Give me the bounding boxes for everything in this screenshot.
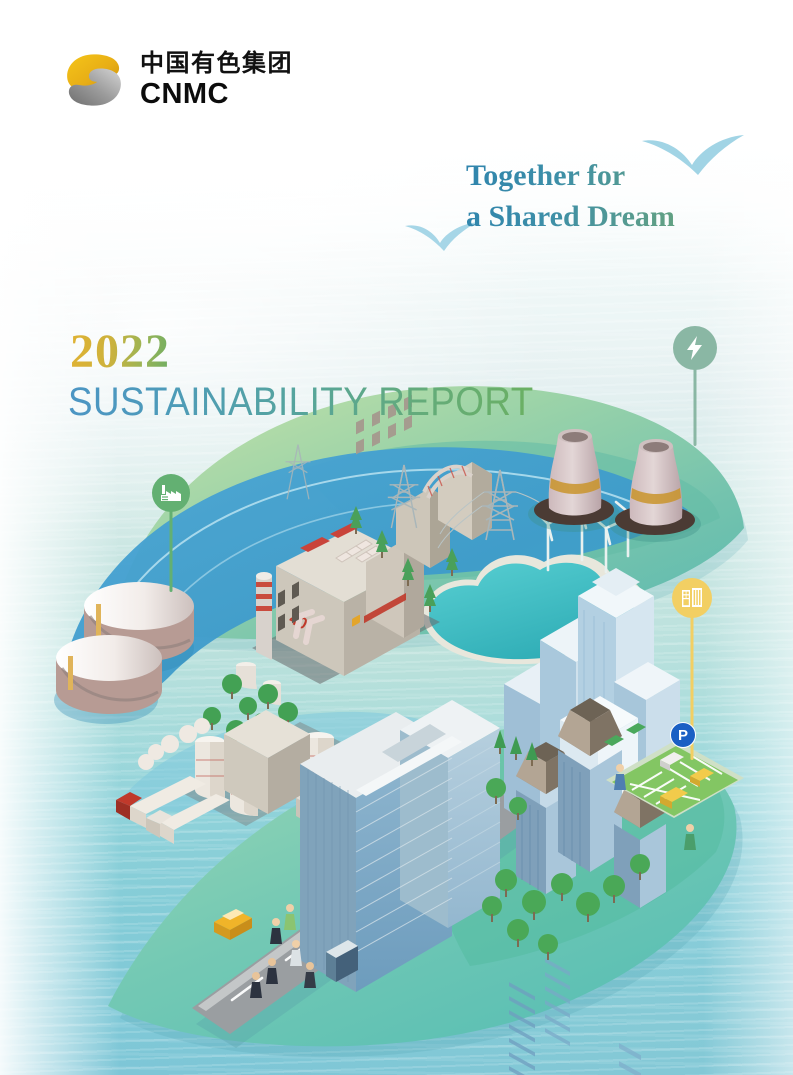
cover-tagline: Together for a Shared Dream — [466, 155, 766, 238]
parking-icon: P — [670, 722, 696, 748]
publisher-name-en: CNMC — [140, 80, 293, 109]
report-year: 2022 — [70, 328, 170, 376]
pin-disc — [672, 578, 712, 618]
map-pin-parking[interactable]: P — [670, 722, 694, 746]
lightning-bolt-icon — [684, 335, 706, 361]
cnmc-logo-block: 中国有色集团 CNMC — [62, 48, 293, 112]
tagline-line-1: Together for — [466, 159, 625, 192]
buildings-icon — [681, 587, 703, 609]
map-pin-industry[interactable] — [152, 474, 190, 592]
cnmc-logo-icon — [62, 48, 126, 112]
pin-stem — [694, 368, 697, 446]
report-title: SUSTAINABILITY REPORT — [68, 382, 534, 422]
map-pin-energy[interactable] — [673, 326, 717, 446]
factory-icon — [160, 483, 182, 503]
oil-storage-tanks — [54, 582, 194, 724]
report-cover-page: 40 — [0, 0, 793, 1075]
tagline-line-2: a Shared Dream — [466, 196, 766, 237]
pin-disc — [673, 326, 717, 370]
publisher-name-cn: 中国有色集团 — [140, 51, 293, 75]
pin-disc — [152, 474, 190, 512]
pin-stem — [170, 510, 173, 592]
